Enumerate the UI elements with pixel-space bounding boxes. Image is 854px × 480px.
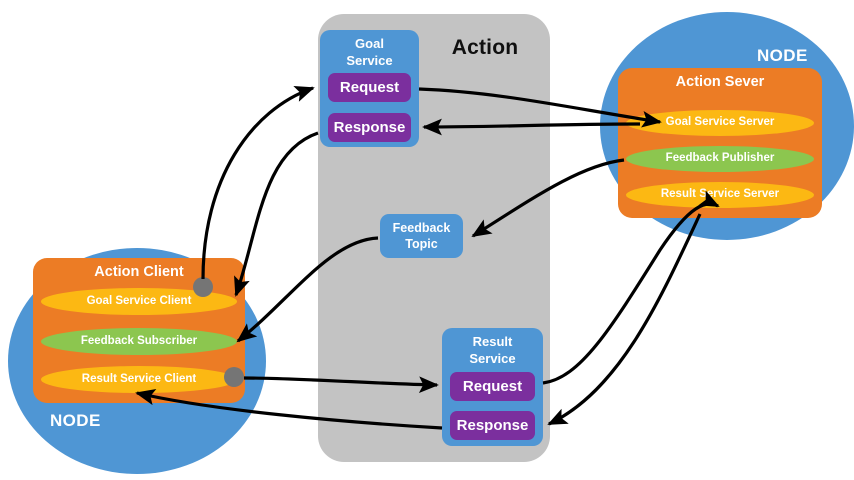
arrow-server-result-to-result-response [549, 214, 700, 424]
server-node-label: NODE [757, 46, 808, 66]
goal-service-title: Goal Service [320, 36, 419, 69]
feedback-topic-box[interactable]: Feedback Topic [380, 214, 463, 258]
result-service-response-box[interactable]: Response [450, 411, 535, 440]
goal-service-server-interface[interactable]: Goal Service Server [626, 110, 814, 136]
goal-client-connector-dot [193, 277, 213, 297]
arrow-goal-response-to-client-goal [236, 133, 318, 295]
action-server-title: Action Sever [618, 74, 822, 90]
arrow-client-goal-to-goal-request [203, 88, 313, 279]
result-service-request-box[interactable]: Request [450, 372, 535, 401]
goal-service-title-line1: Goal [355, 36, 384, 51]
feedback-topic-label: Feedback Topic [393, 220, 451, 253]
goal-service-box: Goal Service Request Response [320, 30, 419, 147]
result-service-title-line2: Service [469, 351, 515, 366]
action-client-title: Action Client [33, 264, 245, 280]
feedback-topic-label-line1: Feedback [393, 221, 451, 235]
feedback-publisher-interface[interactable]: Feedback Publisher [626, 146, 814, 172]
feedback-subscriber-interface[interactable]: Feedback Subscriber [41, 328, 237, 355]
goal-service-response-box[interactable]: Response [328, 113, 411, 142]
result-service-server-interface[interactable]: Result Service Server [626, 182, 814, 208]
goal-service-title-line2: Service [346, 53, 392, 68]
client-node-label: NODE [50, 411, 101, 431]
goal-service-request-box[interactable]: Request [328, 73, 411, 102]
action-container-label: Action [430, 36, 540, 60]
result-client-connector-dot [224, 367, 244, 387]
result-service-title-line1: Result [473, 334, 513, 349]
action-architecture-diagram: Action NODE Action Client Goal Service C… [0, 0, 854, 480]
result-service-title: Result Service [442, 334, 543, 367]
action-server-panel: Action Sever Goal Service Server Feedbac… [618, 68, 822, 218]
feedback-topic-label-line2: Topic [405, 237, 437, 251]
result-service-box: Result Service Request Response [442, 328, 543, 446]
action-client-panel: Action Client Goal Service Client Feedba… [33, 258, 245, 403]
result-service-client-interface[interactable]: Result Service Client [41, 366, 237, 393]
